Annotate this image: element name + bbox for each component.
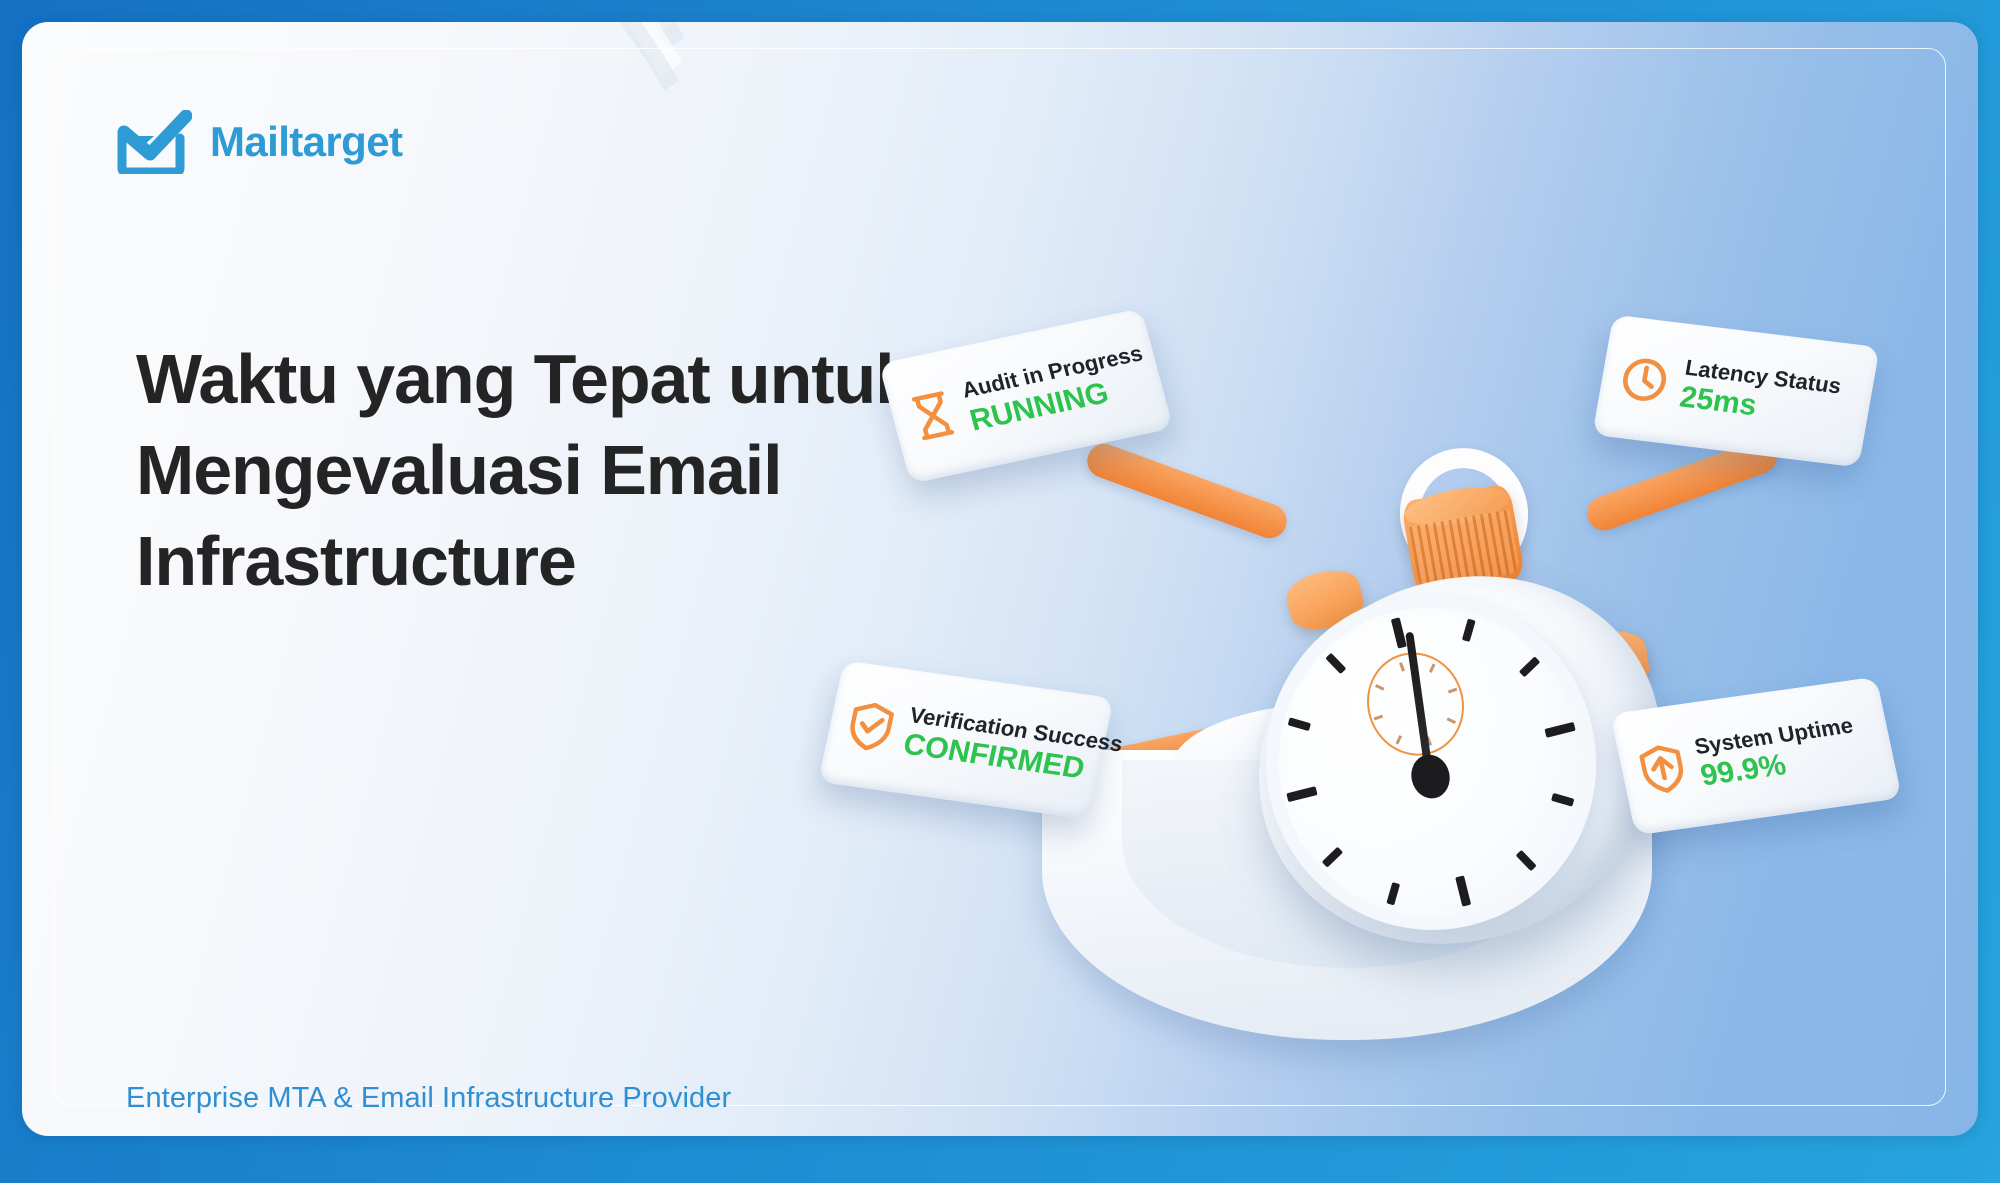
brand-logo[interactable]: Mailtarget bbox=[114, 110, 402, 174]
dial-tick bbox=[1462, 619, 1476, 642]
shield-check-icon bbox=[844, 699, 898, 754]
status-card-latency[interactable]: Latency Status 25ms bbox=[1592, 315, 1880, 468]
shield-arrow-up-icon bbox=[1636, 742, 1690, 797]
dial-tick bbox=[1544, 722, 1575, 738]
dial-tick bbox=[1519, 656, 1540, 677]
envelope-check-icon bbox=[114, 110, 192, 174]
clock-icon bbox=[1617, 353, 1673, 406]
dial-tick bbox=[1516, 850, 1537, 871]
dial-tick bbox=[1288, 717, 1311, 731]
dial-tick bbox=[1325, 653, 1346, 674]
dial-tick bbox=[1551, 793, 1574, 807]
stopwatch-needle-hub bbox=[1407, 751, 1455, 803]
dial-tick bbox=[1391, 617, 1407, 648]
hourglass-icon bbox=[906, 388, 960, 443]
brand-name: Mailtarget bbox=[210, 118, 402, 166]
slide-canvas: Mailtarget Waktu yang Tepat untuk Mengev… bbox=[0, 0, 2000, 1183]
stopwatch-illustration: Audit in Progress RUNNING Latency Status… bbox=[1022, 382, 1978, 1122]
tagline: Enterprise MTA & Email Infrastructure Pr… bbox=[126, 1082, 731, 1115]
dial-tick bbox=[1386, 882, 1400, 905]
dial-tick bbox=[1455, 875, 1471, 906]
dial-tick bbox=[1322, 847, 1343, 868]
dial-tick bbox=[1286, 786, 1317, 802]
status-card-verification[interactable]: Verification Success CONFIRMED bbox=[818, 660, 1114, 819]
hero-card: Mailtarget Waktu yang Tepat untuk Mengev… bbox=[22, 22, 1978, 1136]
